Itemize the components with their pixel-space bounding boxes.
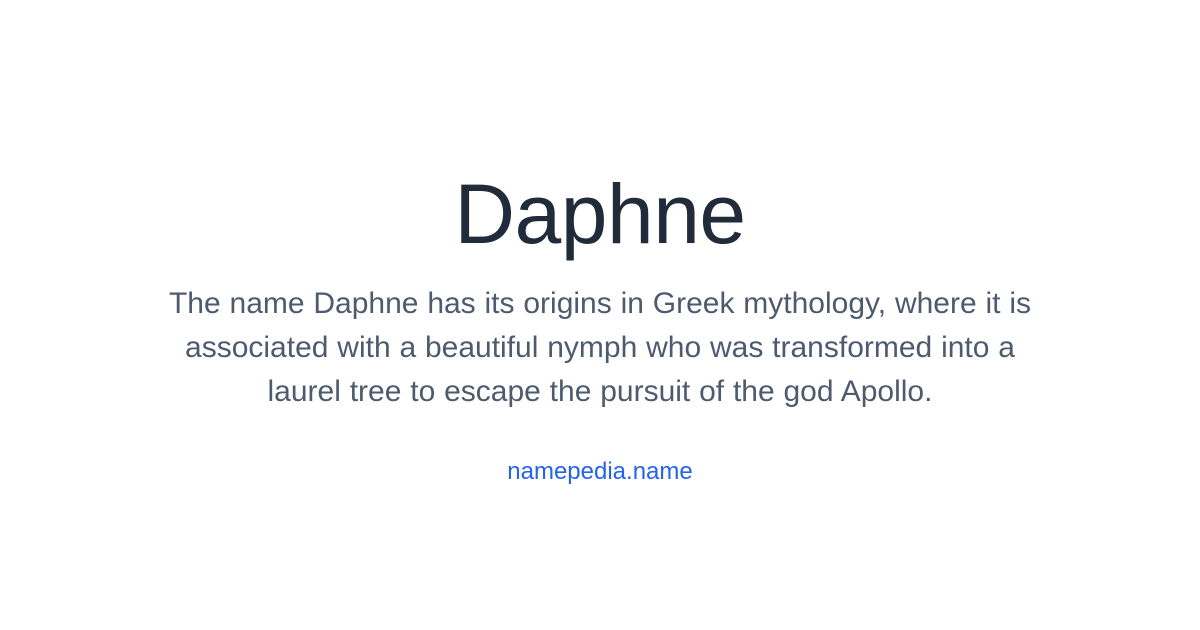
- card-content: Daphne The name Daphne has its origins i…: [80, 168, 1120, 486]
- name-description: The name Daphne has its origins in Greek…: [160, 282, 1040, 414]
- name-info-card: Daphne The name Daphne has its origins i…: [0, 0, 1200, 630]
- page-title: Daphne: [80, 168, 1120, 260]
- site-link[interactable]: namepedia.name: [507, 458, 692, 485]
- footer: namepedia.name: [80, 458, 1120, 486]
